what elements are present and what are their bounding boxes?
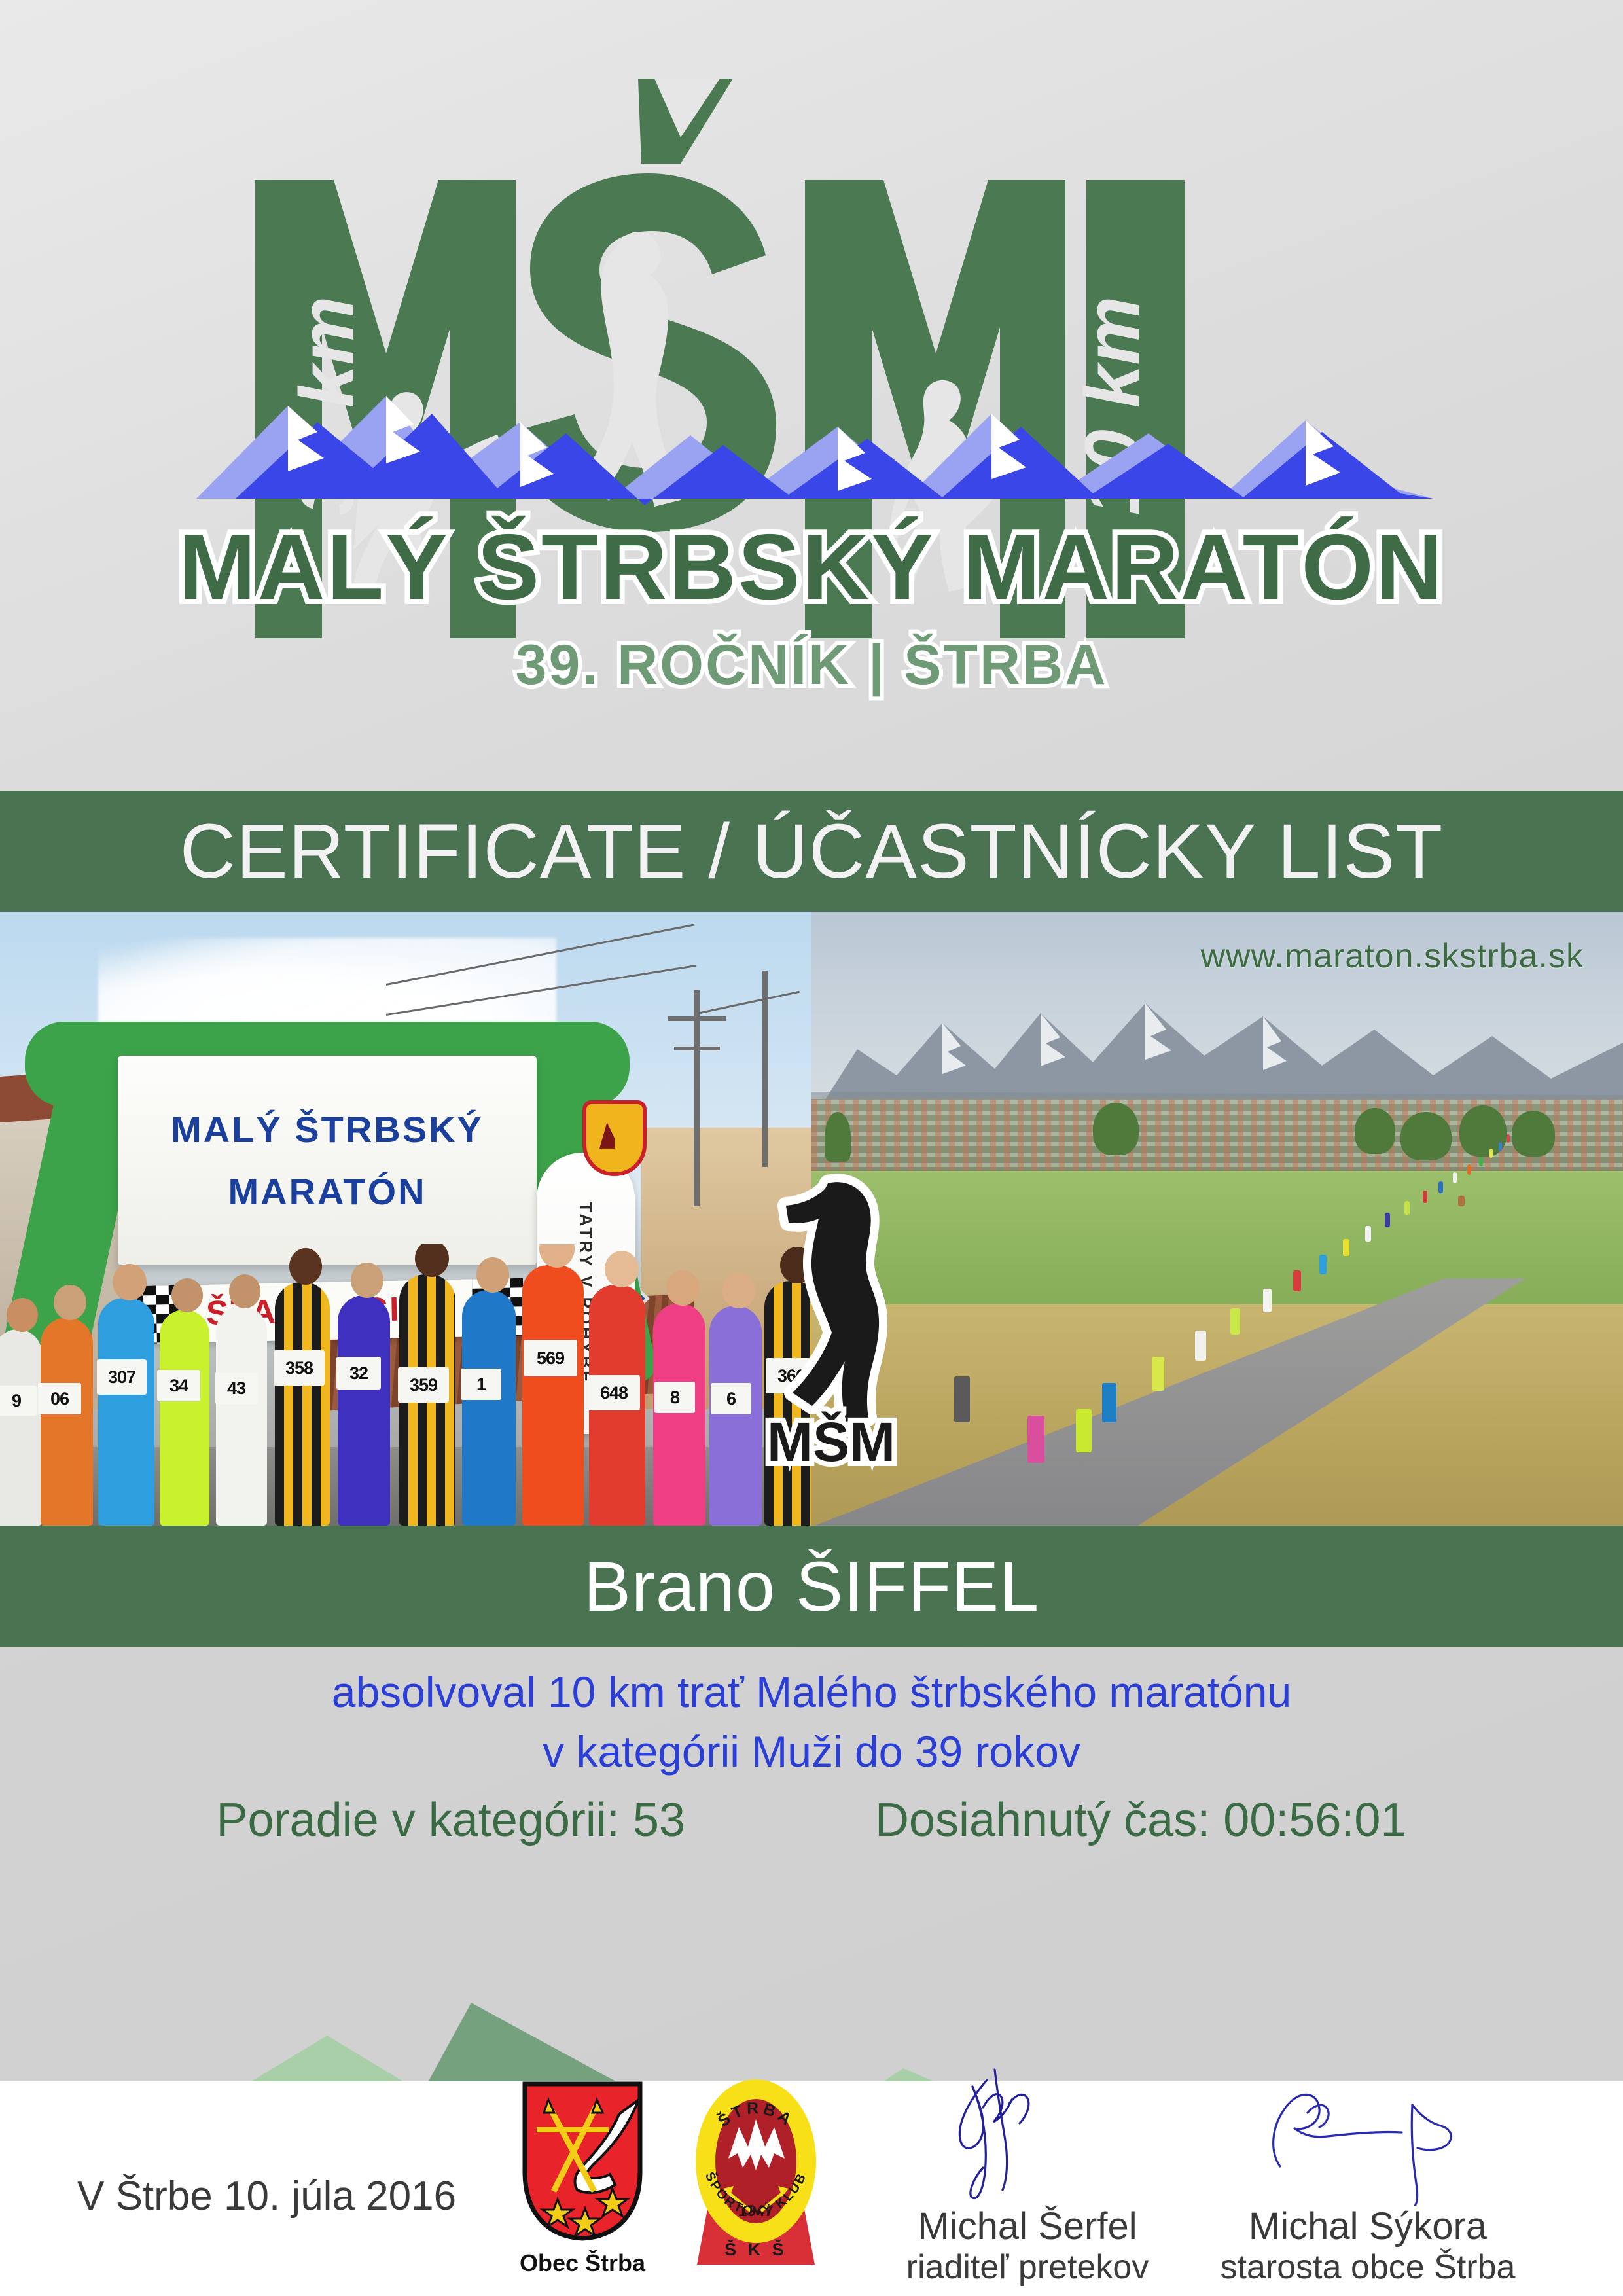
municipality-crest-label: Obec Štrba	[504, 2250, 661, 2277]
runner-bib: 43	[215, 1372, 258, 1404]
runner-bib: 358	[274, 1350, 325, 1386]
achievement-text: absolvoval 10 km trať Malého štrbského m…	[0, 1662, 1623, 1782]
sks-strba-club-logo-icon: 1947 ŠTRBA ŠPORTOVÝ KLUB	[690, 2076, 821, 2266]
logo-edition: 39. ROČNÍK | ŠTRBA	[516, 634, 1108, 696]
runner-bib: 34	[157, 1370, 200, 1401]
certificate-footer: V Štrbe 10. júla 2016 Ob	[0, 2062, 1623, 2296]
runner-bib: 569	[524, 1340, 577, 1376]
municipality-crest: Obec Štrba	[504, 2080, 661, 2276]
runner	[462, 1290, 516, 1526]
runner	[275, 1282, 330, 1526]
runner	[160, 1310, 209, 1526]
arch-banner-line2: MARATÓN	[228, 1170, 426, 1213]
runner-head	[229, 1274, 260, 1308]
achievement-line1: absolvoval 10 km trať Malého štrbského m…	[0, 1662, 1623, 1722]
website-url: www.maraton.skstrba.sk	[1201, 937, 1584, 976]
club-bottom-text: Š K Š	[724, 2239, 787, 2259]
runner	[338, 1295, 390, 1526]
runner-bib: 32	[336, 1357, 381, 1390]
runner	[0, 1329, 42, 1526]
results-row: Poradie v kategórii: 53 Dosiahnutý čas: …	[0, 1793, 1623, 1847]
runner	[98, 1298, 154, 1526]
participant-name-banner: Brano ŠIFFEL	[0, 1526, 1623, 1647]
certificate-page: 31 km 10 km	[0, 0, 1623, 2296]
signatory-role: starosta obce Štrba	[1198, 2248, 1538, 2286]
runner-bib: 8	[654, 1382, 695, 1413]
signature-michal-serfel	[910, 2068, 1145, 2206]
certificate-banner: CERTIFICATE / ÚČASTNÍCKY LIST	[0, 791, 1623, 912]
signatory-role: riaditeľ pretekov	[857, 2248, 1198, 2286]
runner-bib: 9	[0, 1386, 37, 1416]
runner	[41, 1318, 93, 1526]
obec-strba-coat-of-arms-icon	[517, 2080, 648, 2242]
runner-bib: 1	[461, 1369, 501, 1400]
issue-date: V Štrbe 10. júla 2016	[77, 2173, 456, 2219]
runner-head	[605, 1251, 639, 1287]
finish-time: Dosiahnutý čas: 00:56:01	[875, 1793, 1407, 1847]
msm-logo-svg: 31 km 10 km	[157, 39, 1466, 733]
runner-head	[54, 1285, 86, 1320]
photo-start-line: MALÝ ŠTRBSKÝ MARATÓN ŠTART - CIEĽ TATRY …	[0, 912, 811, 1526]
runner	[522, 1265, 584, 1526]
runner-bib: 06	[38, 1383, 81, 1414]
runner	[653, 1303, 705, 1526]
runner-crowd: 9 06 307 34 43 358 32	[0, 1244, 811, 1526]
runner-head	[289, 1248, 322, 1285]
logo-wrap: 31 km 10 km	[157, 39, 1466, 733]
signatory-name: Michal Šerfel	[857, 2206, 1198, 2248]
runner-head	[666, 1270, 699, 1306]
runner-head	[476, 1257, 509, 1293]
runner-head	[539, 1244, 575, 1268]
category-rank: Poradie v kategórii: 53	[217, 1793, 685, 1847]
runner-bib: 648	[588, 1375, 640, 1410]
arch-banner: MALÝ ŠTRBSKÝ MARATÓN	[118, 1056, 537, 1265]
runner-head	[7, 1298, 38, 1332]
runner-bib: 359	[398, 1367, 449, 1403]
signature-block-director: Michal Šerfel riaditeľ pretekov	[857, 2068, 1198, 2286]
signature-block-mayor: Michal Sýkora starosta obce Štrba	[1198, 2068, 1538, 2286]
participant-name: Brano ŠIFFEL	[584, 1551, 1039, 1622]
runner-head	[351, 1263, 383, 1298]
signatory-name: Michal Sýkora	[1198, 2206, 1538, 2248]
runner-bib: 307	[97, 1359, 147, 1395]
signature-michal-sykora	[1237, 2068, 1499, 2206]
arch-banner-line1: MALÝ ŠTRBSKÝ	[171, 1108, 484, 1151]
achievement-line2: v kategórii Muži do 39 rokov	[0, 1722, 1623, 1782]
certificate-title: CERTIFICATE / ÚČASTNÍCKY LIST	[180, 813, 1443, 890]
msm-cutout-label: MŠM	[767, 1411, 895, 1473]
logo-event-name: MALÝ ŠTRBSKÝ MARATÓN	[179, 514, 1445, 619]
tatra-mountains	[811, 951, 1623, 1121]
runner-head	[171, 1278, 203, 1312]
runner-head	[113, 1264, 147, 1300]
sports-club-crest: 1947 ŠTRBA ŠPORTOVÝ KLUB	[690, 2076, 841, 2279]
runner-head	[415, 1244, 449, 1277]
club-shield-icon	[582, 1100, 647, 1176]
runner	[216, 1306, 267, 1526]
event-logo-block: 31 km 10 km	[0, 0, 1623, 791]
msm-cutout-figure: MŠM	[726, 1165, 936, 1479]
